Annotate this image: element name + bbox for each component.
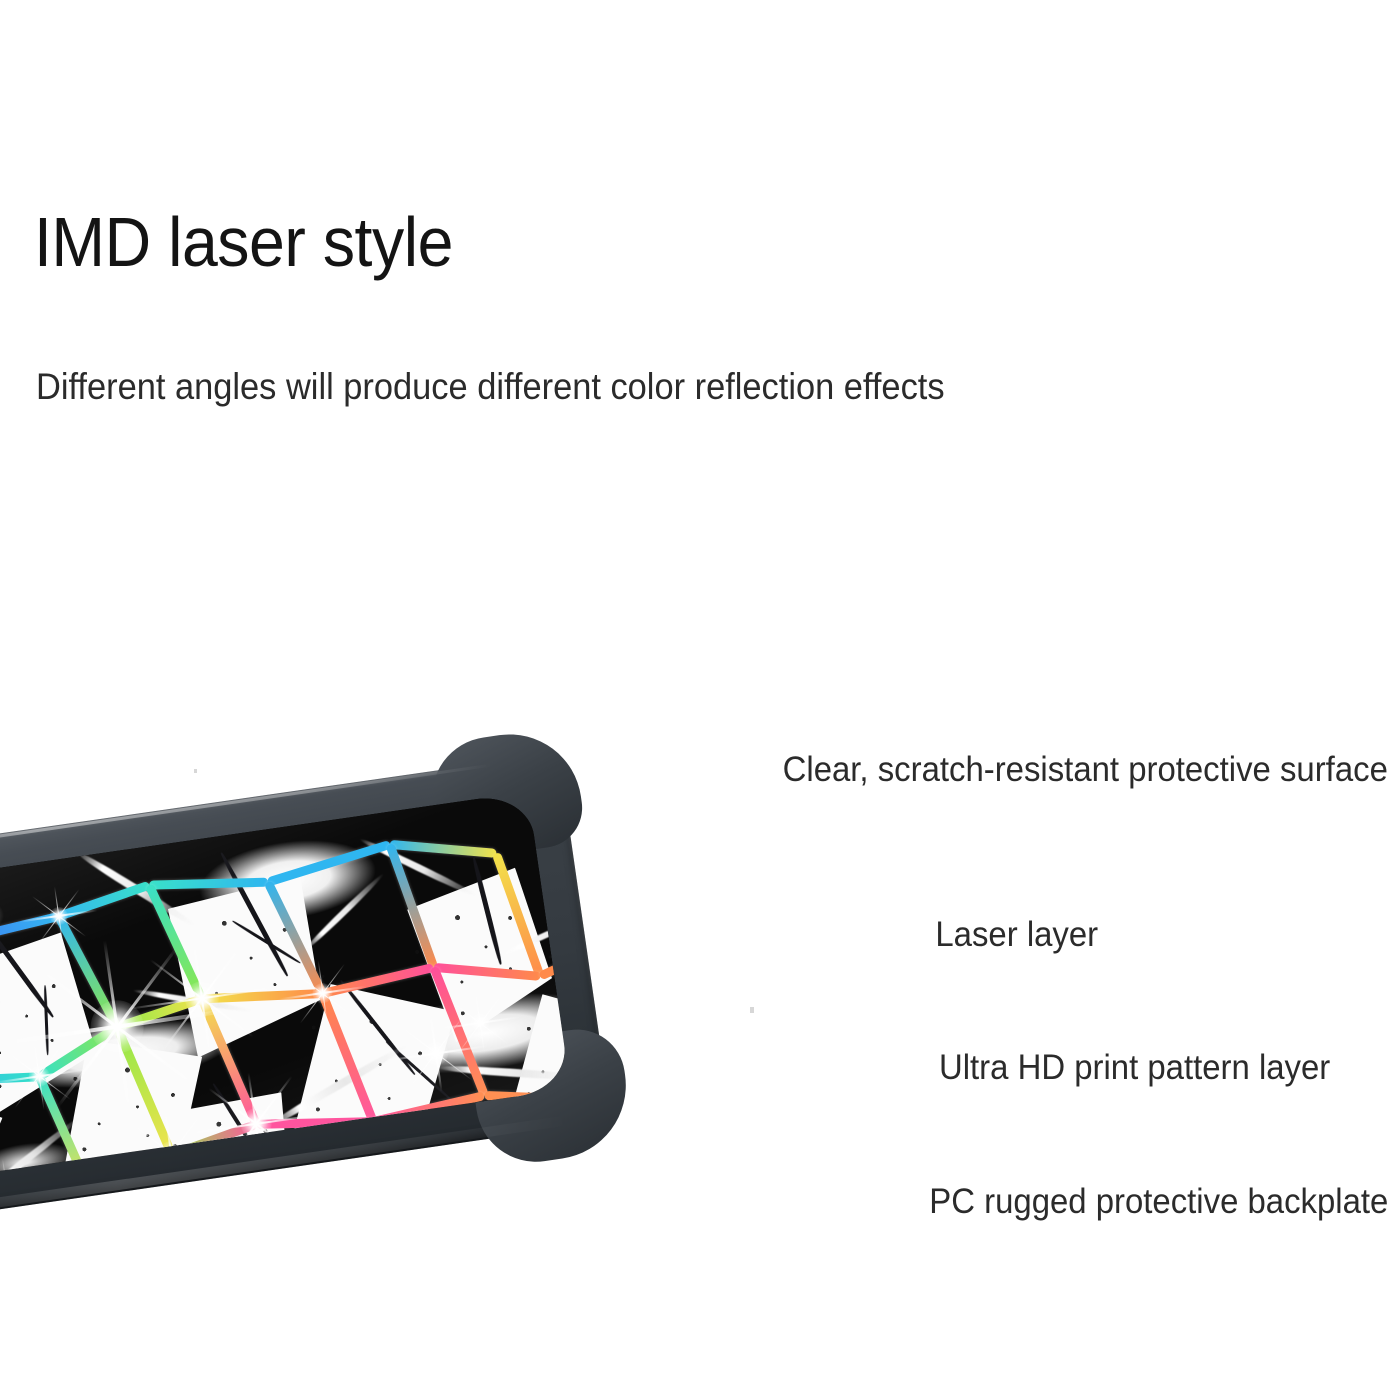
page-subtitle: Different angles will produce different … xyxy=(36,368,945,405)
phone-case xyxy=(0,679,651,1291)
callout-rugged-backplate: PC rugged protective backplate xyxy=(929,1184,1388,1219)
layer-callout-list: Clear, scratch-resistant protective surf… xyxy=(560,752,1388,1252)
product-image xyxy=(0,735,620,1235)
callout-protective-surface: Clear, scratch-resistant protective surf… xyxy=(783,752,1388,787)
page-title: IMD laser style xyxy=(34,207,453,277)
product-feature-slide: IMD laser style Different angles will pr… xyxy=(0,0,1400,1400)
image-artifact-speck xyxy=(194,769,197,773)
callout-laser-layer: Laser layer xyxy=(935,917,1098,952)
callout-print-pattern-layer: Ultra HD print pattern layer xyxy=(939,1050,1330,1085)
image-artifact-speck xyxy=(750,1007,754,1013)
